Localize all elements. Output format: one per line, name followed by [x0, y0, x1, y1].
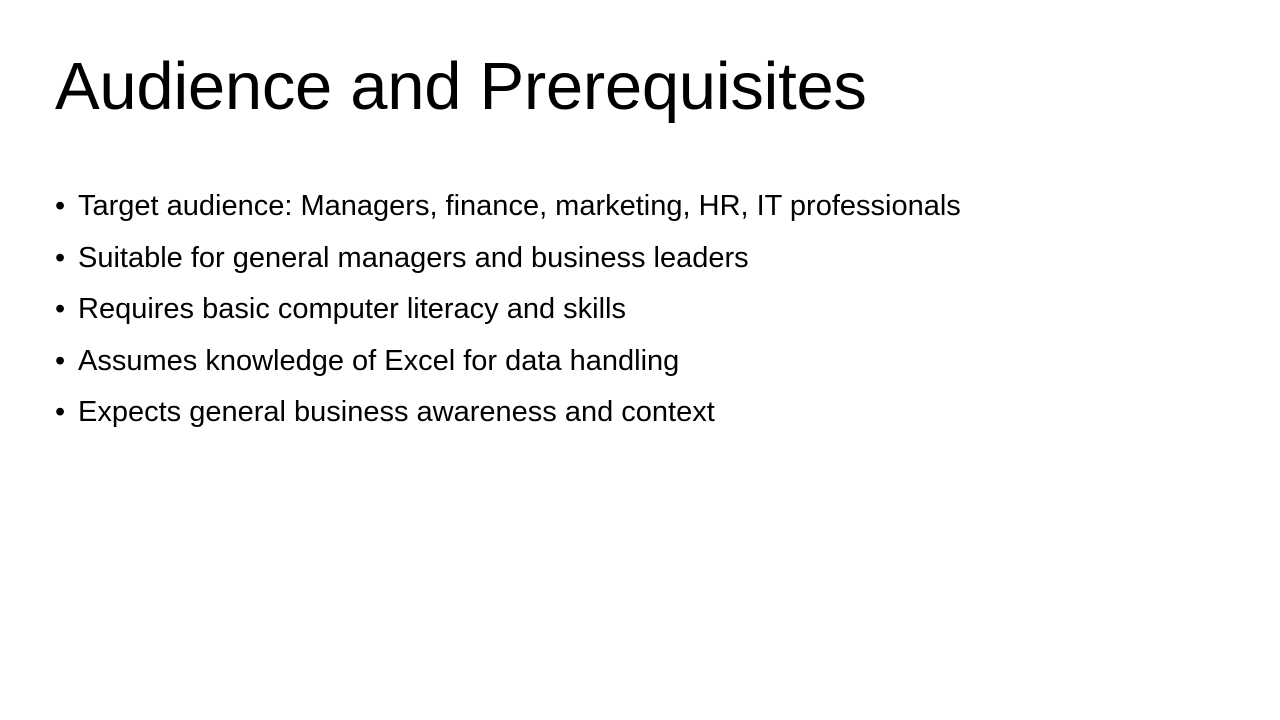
- list-item: • Suitable for general managers and busi…: [55, 235, 1235, 287]
- list-item-text: Expects general business awareness and c…: [78, 389, 715, 435]
- list-item-text: Assumes knowledge of Excel for data hand…: [78, 338, 679, 384]
- bullet-point-icon: •: [55, 389, 78, 435]
- bullet-list: • Target audience: Managers, finance, ma…: [55, 183, 1235, 441]
- bullet-point-icon: •: [55, 235, 78, 281]
- bullet-point-icon: •: [55, 286, 78, 332]
- list-item: • Target audience: Managers, finance, ma…: [55, 183, 1235, 235]
- bullet-point-icon: •: [55, 338, 78, 384]
- list-item-text: Suitable for general managers and busine…: [78, 235, 749, 281]
- list-item-text: Requires basic computer literacy and ski…: [78, 286, 626, 332]
- bullet-point-icon: •: [55, 183, 78, 229]
- list-item: • Assumes knowledge of Excel for data ha…: [55, 338, 1235, 390]
- list-item: • Expects general business awareness and…: [55, 389, 1235, 441]
- list-item: • Requires basic computer literacy and s…: [55, 286, 1235, 338]
- presentation-slide: Audience and Prerequisites • Target audi…: [0, 0, 1280, 720]
- slide-title: Audience and Prerequisites: [55, 47, 1225, 127]
- list-item-text: Target audience: Managers, finance, mark…: [78, 183, 961, 229]
